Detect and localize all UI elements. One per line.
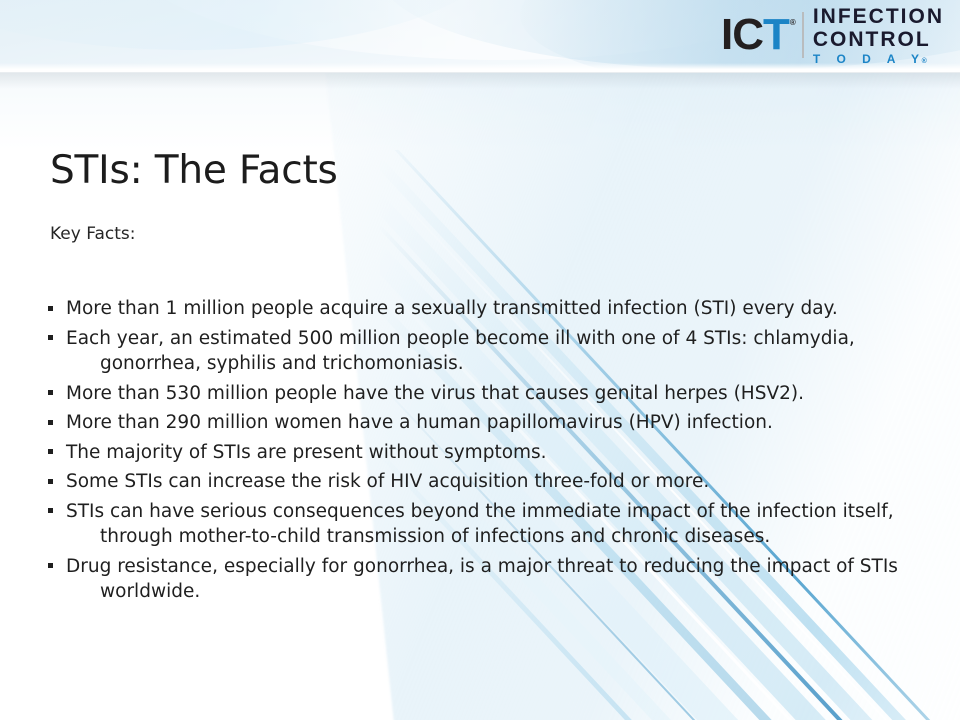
bullet-square-icon xyxy=(48,335,53,340)
list-item: Each year, an estimated 500 million peop… xyxy=(46,326,926,377)
logo-word-today-text: T O D A Y xyxy=(813,53,926,65)
subheading: Key Facts: xyxy=(50,224,135,244)
list-item-text: More than 1 million people acquire a sex… xyxy=(66,296,926,322)
logo-letter-i: I xyxy=(721,13,732,57)
slide: I C T ® INFECTION CONTROL T O D A Y ® ST… xyxy=(0,0,960,720)
list-item: Drug resistance, especially for gonorrhe… xyxy=(46,554,926,605)
list-item: More than 530 million people have the vi… xyxy=(46,381,926,407)
bullet-square-icon xyxy=(48,508,53,513)
bullet-square-icon xyxy=(48,306,53,311)
bullet-square-icon xyxy=(48,449,53,454)
list-item-text: The majority of STIs are present without… xyxy=(66,440,926,466)
trademark-icon: ® xyxy=(790,19,795,27)
facts-list: More than 1 million people acquire a sex… xyxy=(46,296,926,609)
list-item-text: More than 530 million people have the vi… xyxy=(66,381,926,407)
page-title: STIs: The Facts xyxy=(50,148,338,193)
ict-monogram: I C T ® xyxy=(721,13,795,57)
list-item: Some STIs can increase the risk of HIV a… xyxy=(46,469,926,495)
list-item: The majority of STIs are present without… xyxy=(46,440,926,466)
list-item: More than 290 million women have a human… xyxy=(46,410,926,436)
logo-divider xyxy=(802,12,804,58)
logo-wordmark: INFECTION CONTROL T O D A Y ® xyxy=(813,6,944,65)
header-shadow xyxy=(0,73,960,89)
list-item-text: Each year, an estimated 500 million peop… xyxy=(66,326,926,377)
bullet-square-icon xyxy=(48,563,53,568)
list-item: More than 1 million people acquire a sex… xyxy=(46,296,926,322)
bullet-square-icon xyxy=(48,390,53,395)
list-item-text: STIs can have serious consequences beyon… xyxy=(66,499,926,550)
logo-word-infection: INFECTION xyxy=(813,6,944,27)
logo-letter-t: T xyxy=(763,13,789,57)
list-item-text: Drug resistance, especially for gonorrhe… xyxy=(66,554,926,605)
ict-logo: I C T ® INFECTION CONTROL T O D A Y ® xyxy=(721,6,944,64)
registered-icon: ® xyxy=(922,58,927,65)
list-item: STIs can have serious consequences beyon… xyxy=(46,499,926,550)
bullet-square-icon xyxy=(48,479,53,484)
logo-letter-c: C xyxy=(732,13,763,57)
list-item-text: More than 290 million women have a human… xyxy=(66,410,926,436)
logo-word-today: T O D A Y ® xyxy=(813,53,944,65)
list-item-text: Some STIs can increase the risk of HIV a… xyxy=(66,469,926,495)
logo-word-control: CONTROL xyxy=(813,29,944,50)
bullet-square-icon xyxy=(48,420,53,425)
